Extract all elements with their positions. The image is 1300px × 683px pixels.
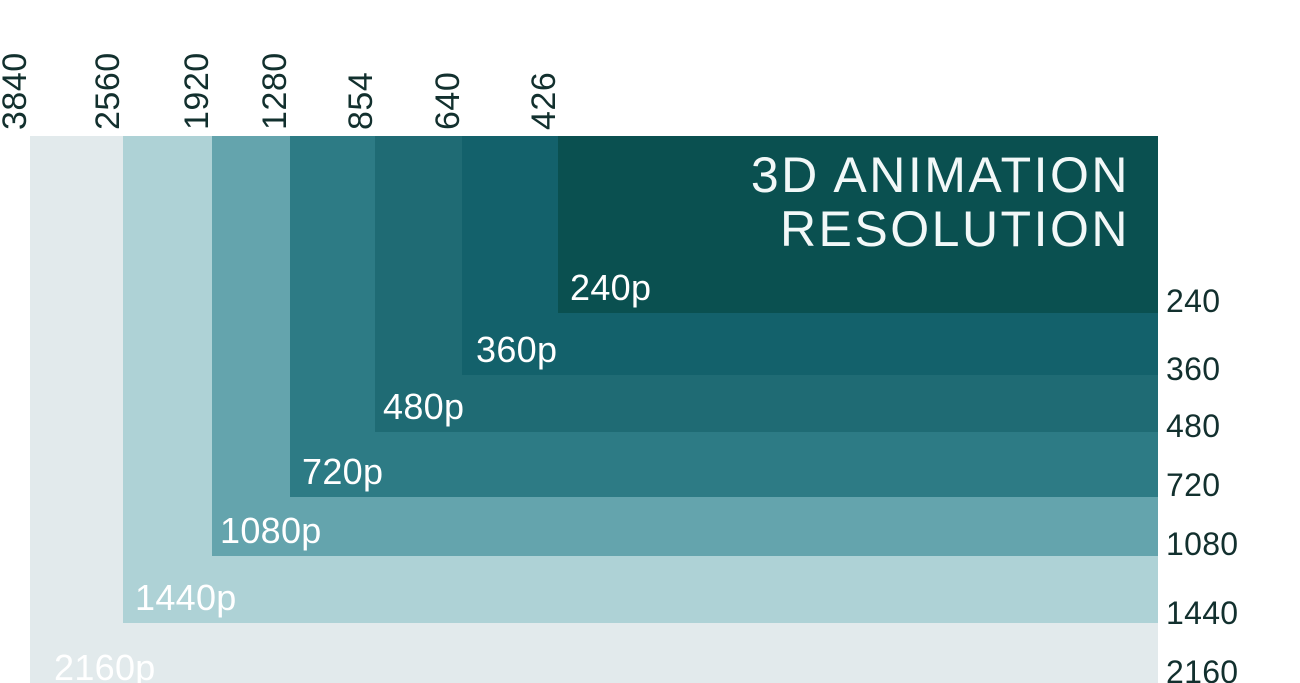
width-axis: 3840 2560 1920 1280 854 640 426 bbox=[0, 0, 1300, 136]
resolution-block-240p: 240p 3D ANIMATION RESOLUTION bbox=[558, 136, 1158, 313]
width-tick-640: 640 bbox=[431, 72, 465, 130]
page-title: 3D ANIMATION RESOLUTION bbox=[570, 148, 1130, 256]
width-tick-2560: 2560 bbox=[91, 52, 125, 130]
page-title-line-1: 3D ANIMATION bbox=[570, 148, 1130, 202]
height-tick-240: 240 bbox=[1166, 285, 1220, 317]
height-tick-1440: 1440 bbox=[1166, 597, 1238, 629]
width-tick-1920: 1920 bbox=[180, 52, 214, 130]
height-tick-720: 720 bbox=[1166, 469, 1220, 501]
height-tick-480: 480 bbox=[1166, 410, 1220, 442]
resolution-block-label-360p: 360p bbox=[476, 331, 557, 369]
width-tick-426: 426 bbox=[527, 72, 561, 130]
resolution-infographic: 2160p 1440p 1080p 720p 480p 360p 240p 3D… bbox=[0, 0, 1300, 683]
resolution-block-label-480p: 480p bbox=[383, 388, 464, 426]
height-tick-1080: 1080 bbox=[1166, 528, 1238, 560]
resolution-block-label-2160p: 2160p bbox=[54, 649, 156, 683]
resolution-block-label-1080p: 1080p bbox=[220, 512, 322, 550]
resolution-block-label-240p: 240p bbox=[570, 269, 651, 307]
height-axis: 240 360 480 720 1080 1440 2160 bbox=[1158, 0, 1300, 683]
height-tick-2160: 2160 bbox=[1166, 656, 1238, 683]
height-tick-360: 360 bbox=[1166, 353, 1220, 385]
width-tick-1280: 1280 bbox=[258, 52, 292, 130]
resolution-block-label-720p: 720p bbox=[302, 453, 383, 491]
width-tick-854: 854 bbox=[344, 72, 378, 130]
width-tick-3840: 3840 bbox=[0, 52, 32, 130]
page-title-line-2: RESOLUTION bbox=[570, 202, 1130, 256]
resolution-block-label-1440p: 1440p bbox=[135, 579, 237, 617]
